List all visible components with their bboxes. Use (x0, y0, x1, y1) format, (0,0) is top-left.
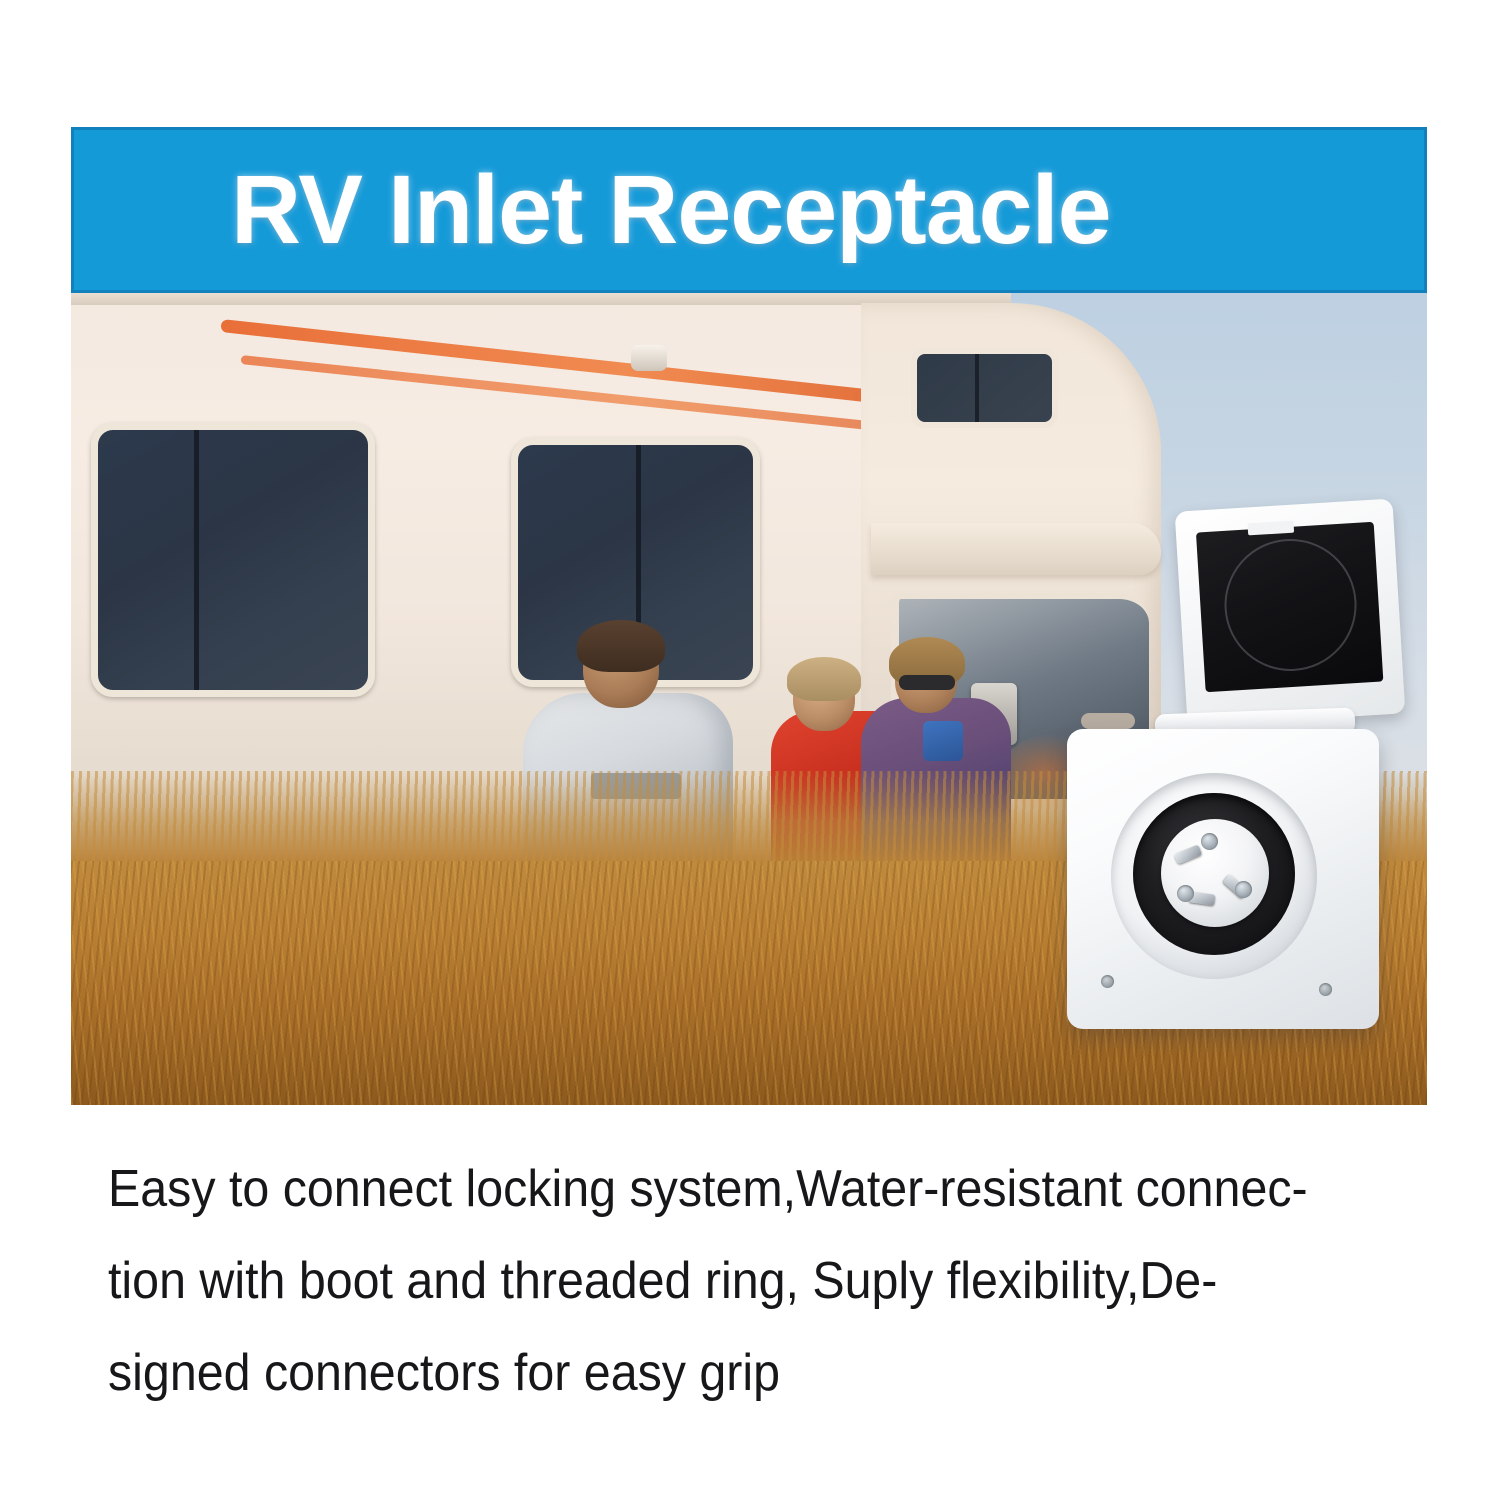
sunglasses-icon (899, 675, 955, 690)
boy-hair (787, 657, 861, 701)
hero-photo (71, 293, 1427, 1105)
rv-roof-vent (631, 345, 667, 371)
rv-window-mullion (975, 354, 979, 422)
product-lid-gasket (1196, 522, 1383, 693)
description-line-2: tion with boot and threaded ring, Suply … (108, 1235, 1336, 1327)
description-line-3: signed connectors for easy grip (108, 1327, 1336, 1419)
terminal-screw (1235, 881, 1252, 898)
terminal-screw (1201, 833, 1218, 850)
terminal-screw (1177, 885, 1194, 902)
rv-bunk-window (911, 348, 1058, 428)
description-block: Easy to connect locking system,Water-res… (108, 1143, 1428, 1419)
mounting-hole (1101, 975, 1114, 988)
product-lid (1175, 499, 1406, 727)
product-threaded-ring (1133, 793, 1295, 955)
contact-pin (1174, 845, 1202, 865)
page-title: RV Inlet Receptacle (231, 145, 1331, 275)
product-receptacle (1059, 505, 1404, 1035)
product-plug-face (1161, 819, 1269, 927)
rv-window-rear (91, 423, 375, 697)
rv-window-mullion (194, 430, 199, 690)
man-hair (577, 620, 665, 672)
product-recess (1111, 773, 1317, 979)
product-marketing-image: RV Inlet Receptacle (0, 0, 1500, 1500)
mounting-hole (1319, 983, 1332, 996)
header-banner: RV Inlet Receptacle (71, 127, 1427, 293)
description-line-1: Easy to connect locking system,Water-res… (108, 1143, 1336, 1235)
woman-mug (923, 721, 963, 761)
